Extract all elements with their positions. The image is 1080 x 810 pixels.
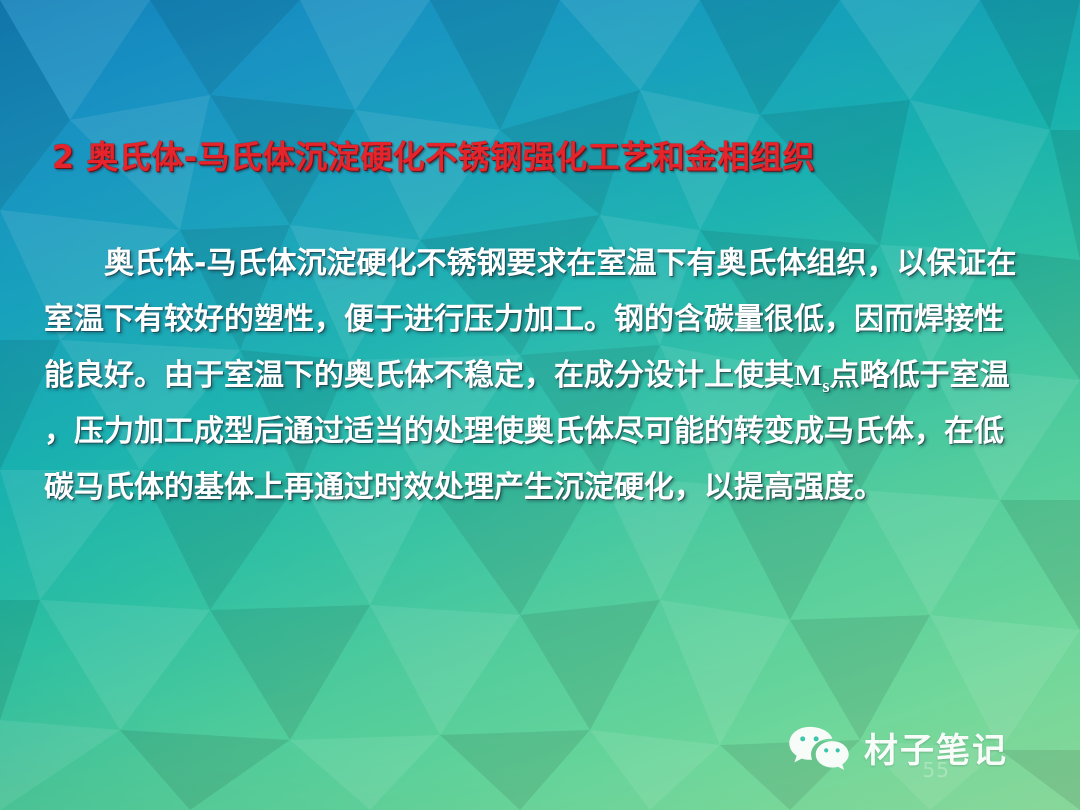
slide-title: 2 奥氏体-马氏体沉淀硬化不锈钢强化工艺和金相组织 xyxy=(52,137,1032,177)
body-line-4: ，压力加工成型后通过适当的处理使奥氏体尽可能的转变成马氏体，在低 xyxy=(44,404,1006,460)
body-line-3-part-a: 能良好。由于室温下的奥氏体不稳定，在成分设计上使其 xyxy=(44,358,794,393)
wechat-icon xyxy=(788,725,850,771)
slide-body: 奥氏体-马氏体沉淀硬化不锈钢要求在室温下有奥氏体组织，以保证在 室温下有较好的塑… xyxy=(44,236,1006,516)
watermark: 材子笔记 xyxy=(788,723,1008,772)
ms-symbol-subscript: s xyxy=(822,376,829,397)
ms-symbol-base: M xyxy=(794,359,822,392)
body-line-2: 室温下有较好的塑性，便于进行压力加工。钢的含碳量很低，因而焊接性 xyxy=(44,292,1006,348)
watermark-text: 材子笔记 xyxy=(864,723,1008,772)
body-line-5: 碳马氏体的基体上再通过时效处理产生沉淀硬化，以提高强度。 xyxy=(44,460,1006,516)
body-line-3-part-b: 点略低于室温 xyxy=(830,358,1010,393)
body-line-3: 能良好。由于室温下的奥氏体不稳定，在成分设计上使其Ms点略低于室温 xyxy=(44,348,1006,404)
body-line-1: 奥氏体-马氏体沉淀硬化不锈钢要求在室温下有奥氏体组织，以保证在 xyxy=(44,236,1006,292)
presentation-slide: 2 奥氏体-马氏体沉淀硬化不锈钢强化工艺和金相组织 奥氏体-马氏体沉淀硬化不锈钢… xyxy=(0,0,1080,810)
